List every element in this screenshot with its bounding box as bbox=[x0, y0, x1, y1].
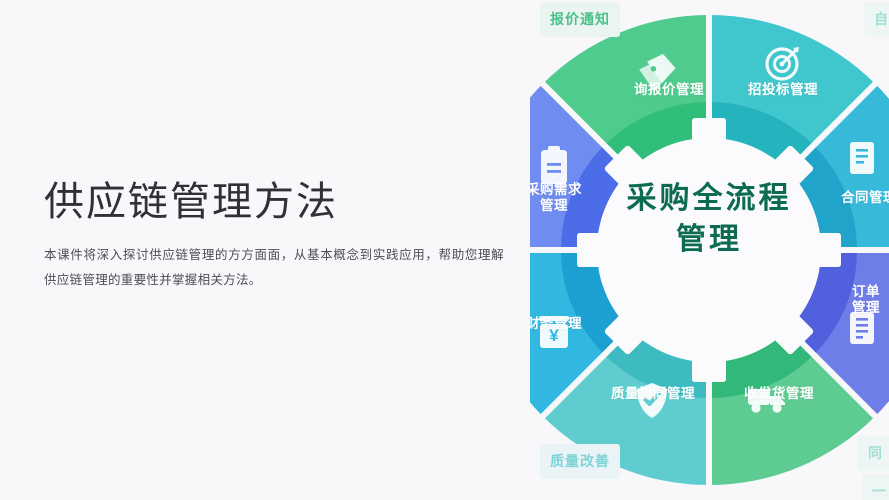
svg-text:¥: ¥ bbox=[549, 326, 559, 345]
clipboard-icon bbox=[541, 146, 567, 184]
procurement-wheel-diagram: ¥ bbox=[530, 0, 889, 500]
badge-sync[interactable]: 同 bbox=[858, 436, 889, 471]
badge-quote-notice[interactable]: 报价通知 bbox=[540, 2, 620, 37]
document-icon bbox=[850, 142, 874, 174]
page-title: 供应链管理方法 bbox=[44, 178, 338, 226]
yuan-bill-icon: ¥ bbox=[539, 316, 569, 348]
badge-auto[interactable]: 自 bbox=[864, 2, 889, 37]
badge-quality-improve[interactable]: 质量改善 bbox=[540, 444, 620, 479]
list-icon bbox=[850, 312, 874, 344]
wheel-svg: ¥ bbox=[530, 0, 889, 500]
text-panel: 供应链管理方法 本课件将深入探讨供应链管理的方方面面，从基本概念到实践应用，帮助… bbox=[0, 0, 530, 500]
wheel-wrapper: ¥ bbox=[530, 0, 889, 500]
badge-unify[interactable]: 一 bbox=[862, 474, 889, 500]
page-subtitle: 本课件将深入探讨供应链管理的方方面面，从基本概念到实践应用，帮助您理解供应链管理… bbox=[44, 243, 504, 293]
hub-face bbox=[577, 118, 841, 382]
